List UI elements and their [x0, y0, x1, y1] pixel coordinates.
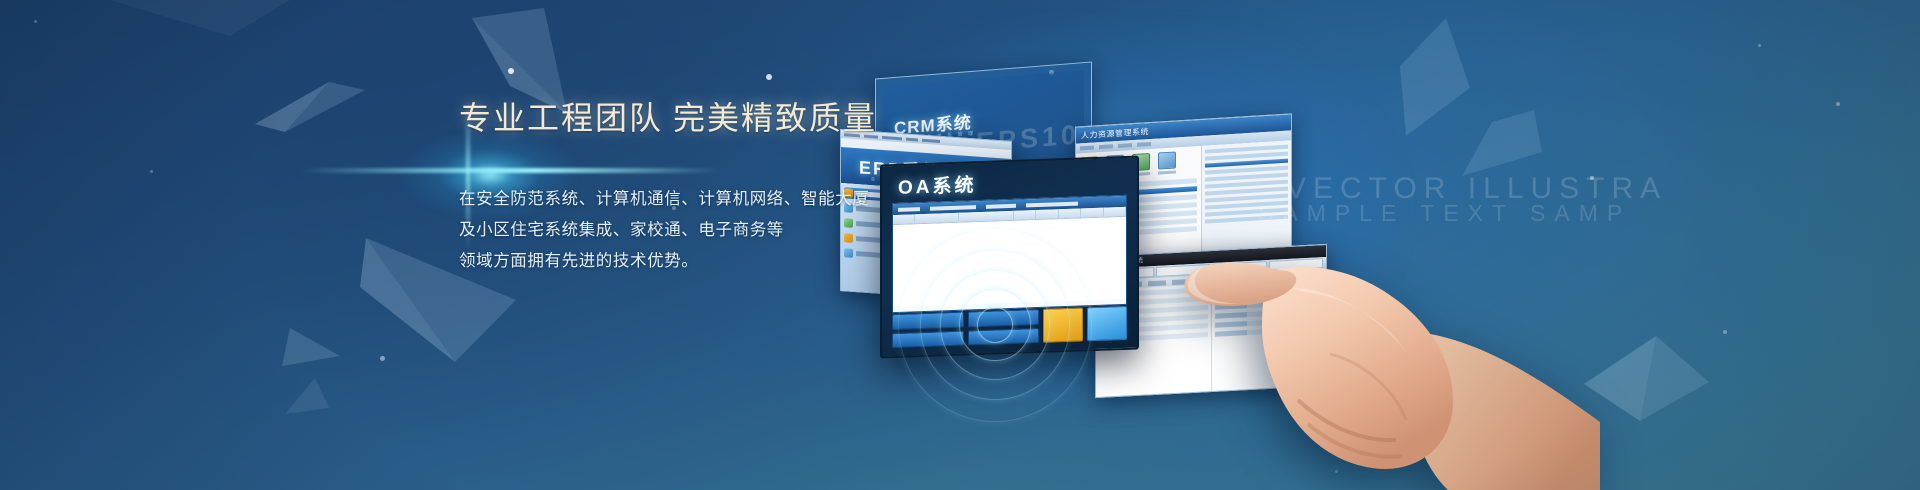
- bg-polygon-3: [282, 328, 342, 368]
- table-row: [1215, 326, 1324, 337]
- settings-icon: [1158, 151, 1176, 174]
- hero-description: 在安全防范系统、计算机通信、计算机网络、智能大厦 及小区住宅系统集成、家校通、电…: [459, 183, 889, 276]
- bg-polygon-8: [1584, 336, 1709, 421]
- bokeh-dot: [1836, 102, 1840, 106]
- bokeh-dot: [1758, 44, 1761, 47]
- bokeh-dot: [380, 356, 385, 361]
- bokeh-dot: [766, 74, 772, 80]
- oa-dock-button[interactable]: [892, 312, 964, 330]
- oa-button-group: [968, 309, 1040, 345]
- stock-watermark-line-2: SAMPLE TEXT SAMP: [1258, 200, 1631, 227]
- page-title: 专业工程团队 完美精致质量: [459, 98, 889, 138]
- oa-title: OA系统: [898, 170, 977, 200]
- oa-dock-button[interactable]: [968, 327, 1040, 345]
- bokeh-dot: [34, 20, 37, 23]
- screen-window-oa: OA系统: [880, 155, 1139, 358]
- hr-title: 人力资源管理系统: [1081, 126, 1149, 141]
- hero-description-line-3: 领域方面拥有先进的技术优势。: [459, 245, 889, 276]
- bg-polygon-4: [285, 378, 333, 414]
- software-screens-collage: EPS10 CRM系统 客 户 关 系 管 理 人力资源管理系统: [840, 0, 1460, 490]
- hero-description-line-2: 及小区住宅系统集成、家校通、电子商务等: [459, 214, 889, 245]
- bokeh-dot: [508, 68, 514, 74]
- oa-table-body: [893, 217, 1126, 307]
- bg-polygon-1: [255, 82, 365, 132]
- bokeh-dot: [1723, 330, 1727, 334]
- oa-button-dock: [892, 306, 1127, 348]
- hero-banner: 专业工程团队 完美精致质量 在安全防范系统、计算机通信、计算机网络、智能大厦 及…: [0, 0, 1920, 490]
- oa-button-group: [892, 312, 964, 348]
- oa-dock-button[interactable]: [968, 309, 1040, 327]
- hero-copy: 专业工程团队 完美精致质量 在安全防范系统、计算机通信、计算机网络、智能大厦 及…: [459, 98, 889, 276]
- bg-polygon-9: [110, 0, 290, 40]
- oa-application: [892, 195, 1127, 313]
- hero-description-line-1: 在安全防范系统、计算机通信、计算机网络、智能大厦: [459, 183, 889, 214]
- bg-polygon-7: [1462, 110, 1542, 180]
- accounting-column: [1211, 278, 1327, 391]
- bokeh-dot: [150, 170, 153, 173]
- oa-dock-tile-info[interactable]: [1087, 306, 1127, 341]
- oa-dock-button[interactable]: [892, 330, 964, 348]
- oa-dock-tile-highlight[interactable]: [1043, 307, 1083, 342]
